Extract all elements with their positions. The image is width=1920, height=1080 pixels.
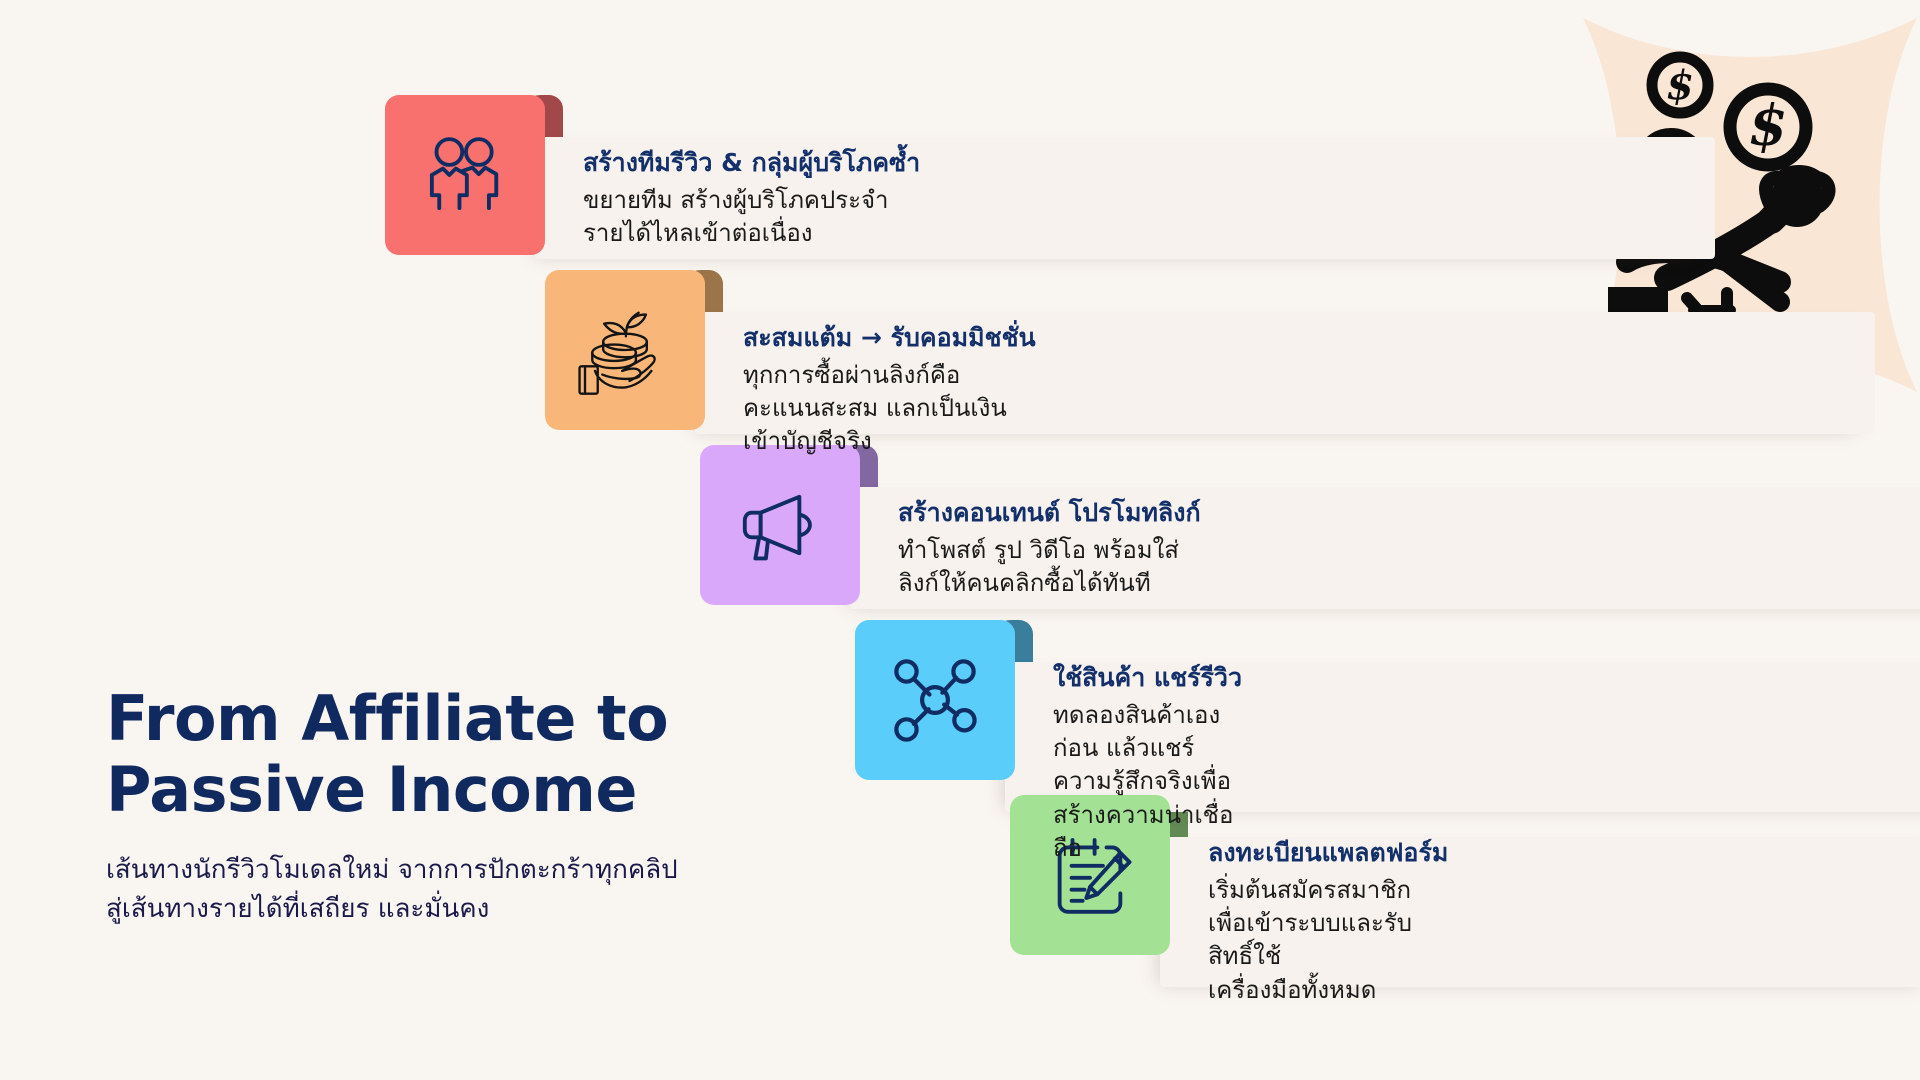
network-share-icon [889, 654, 981, 746]
svg-text:$: $ [1666, 62, 1694, 109]
step-3-text: สร้างคอนเทนต์ โปรโมทลิงก์ ทำโพสต์ รูป วิ… [898, 497, 1201, 600]
step-1-card[interactable] [385, 95, 545, 255]
step-2-title: สะสมแต้ม → รับคอมมิชชั่น [743, 322, 1036, 353]
page-subtitle-line1: เส้นทางนักรีวิวโมเดลใหม่ จากการปักตะกร้า… [106, 851, 806, 889]
step-1-title: สร้างทีมรีวิว & กลุ่มผู้บริโภคซ้ำ [583, 147, 920, 178]
step-4-card[interactable] [855, 620, 1015, 780]
step-3-card[interactable] [700, 445, 860, 605]
step-3-title: สร้างคอนเทนต์ โปรโมทลิงก์ [898, 497, 1201, 528]
step-3-desc-line1: ทำโพสต์ รูป วิดีโอ พร้อมใส่ลิงก์ให้คนคลิ… [898, 534, 1201, 600]
headline-block: From Affiliate to Passive Income เส้นทาง… [106, 684, 806, 928]
step-4-title: ใช้สินค้า แชร์รีวิว [1053, 662, 1242, 693]
step-4-desc-line1: ทดลองสินค้าเองก่อน แล้วแชร์ความรู้สึกจริ… [1053, 699, 1242, 798]
two-people-icon [419, 129, 511, 221]
svg-text:$: $ [1749, 93, 1788, 159]
step-5-desc-line1: เริ่มต้นสมัครสมาชิก เพื่อเข้าระบบและรับส… [1208, 874, 1448, 973]
step-2-desc-line1: ทุกการซื้อผ่านลิงก์คือ คะแนนสะสม แลกเป็น… [743, 359, 1036, 458]
step-4-text: ใช้สินค้า แชร์รีวิว ทดลองสินค้าเองก่อน แ… [1053, 662, 1242, 865]
step-5-desc-line2: เครื่องมือทั้งหมด [1208, 974, 1448, 1007]
page-subtitle-line2: สู่เส้นทางรายได้ที่เสถียร และมั่นคง [106, 890, 806, 928]
person-head [1770, 173, 1824, 227]
megaphone-icon [736, 481, 824, 569]
page-subtitle: เส้นทางนักรีวิวโมเดลใหม่ จากการปักตะกร้า… [106, 851, 806, 928]
page-title-line2: Passive Income [106, 753, 637, 826]
page-title: From Affiliate to Passive Income [106, 684, 806, 825]
step-2-card[interactable] [545, 270, 705, 430]
step-5-text: ลงทะเบียนแพลตฟอร์ม เริ่มต้นสมัครสมาชิก เ… [1208, 837, 1448, 1007]
step-5-title: ลงทะเบียนแพลตฟอร์ม [1208, 837, 1448, 868]
infographic-canvas: $ $ $ [0, 0, 1920, 1080]
step-1-desc-line1: ขยายทีม สร้างผู้บริโภคประจำ รายได้ไหลเข้… [583, 184, 920, 250]
step-2-text: สะสมแต้ม → รับคอมมิชชั่น ทุกการซื้อผ่านล… [743, 322, 1036, 459]
step-1-text: สร้างทีมรีวิว & กลุ่มผู้บริโภคซ้ำ ขยายที… [583, 147, 920, 250]
hand-coins-plant-icon [575, 300, 675, 400]
page-title-line1: From Affiliate to [106, 682, 668, 755]
